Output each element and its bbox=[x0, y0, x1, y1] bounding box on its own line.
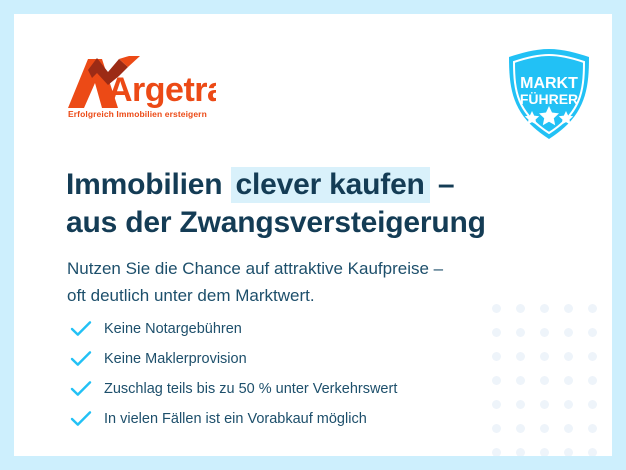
subtitle-line-2: oft deutlich unter dem Marktwert. bbox=[67, 282, 567, 309]
subtitle-line-1: Nutzen Sie die Chance auf attraktive Kau… bbox=[67, 255, 567, 282]
list-item: In vielen Fällen ist ein Vorabkauf mögli… bbox=[70, 404, 550, 434]
badge-line2: FÜHRER bbox=[520, 91, 578, 107]
decorative-dot bbox=[588, 448, 597, 456]
market-leader-badge: MARKT FÜHRER bbox=[501, 46, 597, 142]
decorative-dot bbox=[564, 376, 573, 385]
check-icon bbox=[70, 350, 92, 368]
decorative-dot bbox=[588, 328, 597, 337]
shield-icon: MARKT FÜHRER bbox=[501, 46, 597, 142]
list-item: Zuschlag teils bis zu 50 % unter Verkehr… bbox=[70, 374, 550, 404]
decorative-dot bbox=[492, 448, 501, 456]
decorative-dot bbox=[588, 352, 597, 361]
list-item: Keine Notargebühren bbox=[70, 314, 550, 344]
headline-suffix: – bbox=[430, 168, 455, 201]
decorative-dot bbox=[564, 424, 573, 433]
logo-tagline: Erfolgreich Immobilien ersteigern bbox=[68, 109, 207, 119]
svg-text:Argetra: Argetra bbox=[108, 71, 216, 108]
decorative-dot bbox=[516, 448, 525, 456]
decorative-dot bbox=[564, 328, 573, 337]
decorative-dot bbox=[588, 376, 597, 385]
benefit-label: Keine Notargebühren bbox=[104, 320, 242, 338]
benefit-label: In vielen Fällen ist ein Vorabkauf mögli… bbox=[104, 410, 367, 428]
decorative-dot bbox=[588, 424, 597, 433]
promo-banner: Argetra Erfolgreich Immobilien ersteiger… bbox=[0, 0, 626, 470]
headline-highlight: clever kaufen bbox=[231, 167, 430, 203]
headline-prefix: Immobilien bbox=[66, 168, 231, 201]
argetra-logo[interactable]: Argetra Erfolgreich Immobilien ersteiger… bbox=[66, 56, 216, 124]
decorative-dot bbox=[540, 448, 549, 456]
decorative-dot bbox=[564, 400, 573, 409]
benefit-label: Keine Maklerprovision bbox=[104, 350, 247, 368]
benefits-list: Keine Notargebühren Keine Maklerprovisio… bbox=[70, 314, 550, 434]
page-title: Immobilien clever kaufen – aus der Zwang… bbox=[66, 166, 536, 242]
headline-line-1: Immobilien clever kaufen – bbox=[66, 166, 536, 204]
banner-card: Argetra Erfolgreich Immobilien ersteiger… bbox=[14, 14, 612, 456]
badge-line1: MARKT bbox=[520, 75, 578, 92]
argetra-roof-a-icon: Argetra bbox=[66, 56, 216, 108]
benefit-label: Zuschlag teils bis zu 50 % unter Verkehr… bbox=[104, 380, 397, 398]
decorative-dot bbox=[588, 400, 597, 409]
check-icon bbox=[70, 410, 92, 428]
headline-line-2: aus der Zwangsversteigerung bbox=[66, 204, 536, 242]
list-item: Keine Maklerprovision bbox=[70, 344, 550, 374]
check-icon bbox=[70, 320, 92, 338]
decorative-dot bbox=[564, 448, 573, 456]
decorative-dot bbox=[588, 304, 597, 313]
decorative-dot bbox=[564, 352, 573, 361]
check-icon bbox=[70, 380, 92, 398]
subtitle: Nutzen Sie die Chance auf attraktive Kau… bbox=[67, 255, 567, 309]
